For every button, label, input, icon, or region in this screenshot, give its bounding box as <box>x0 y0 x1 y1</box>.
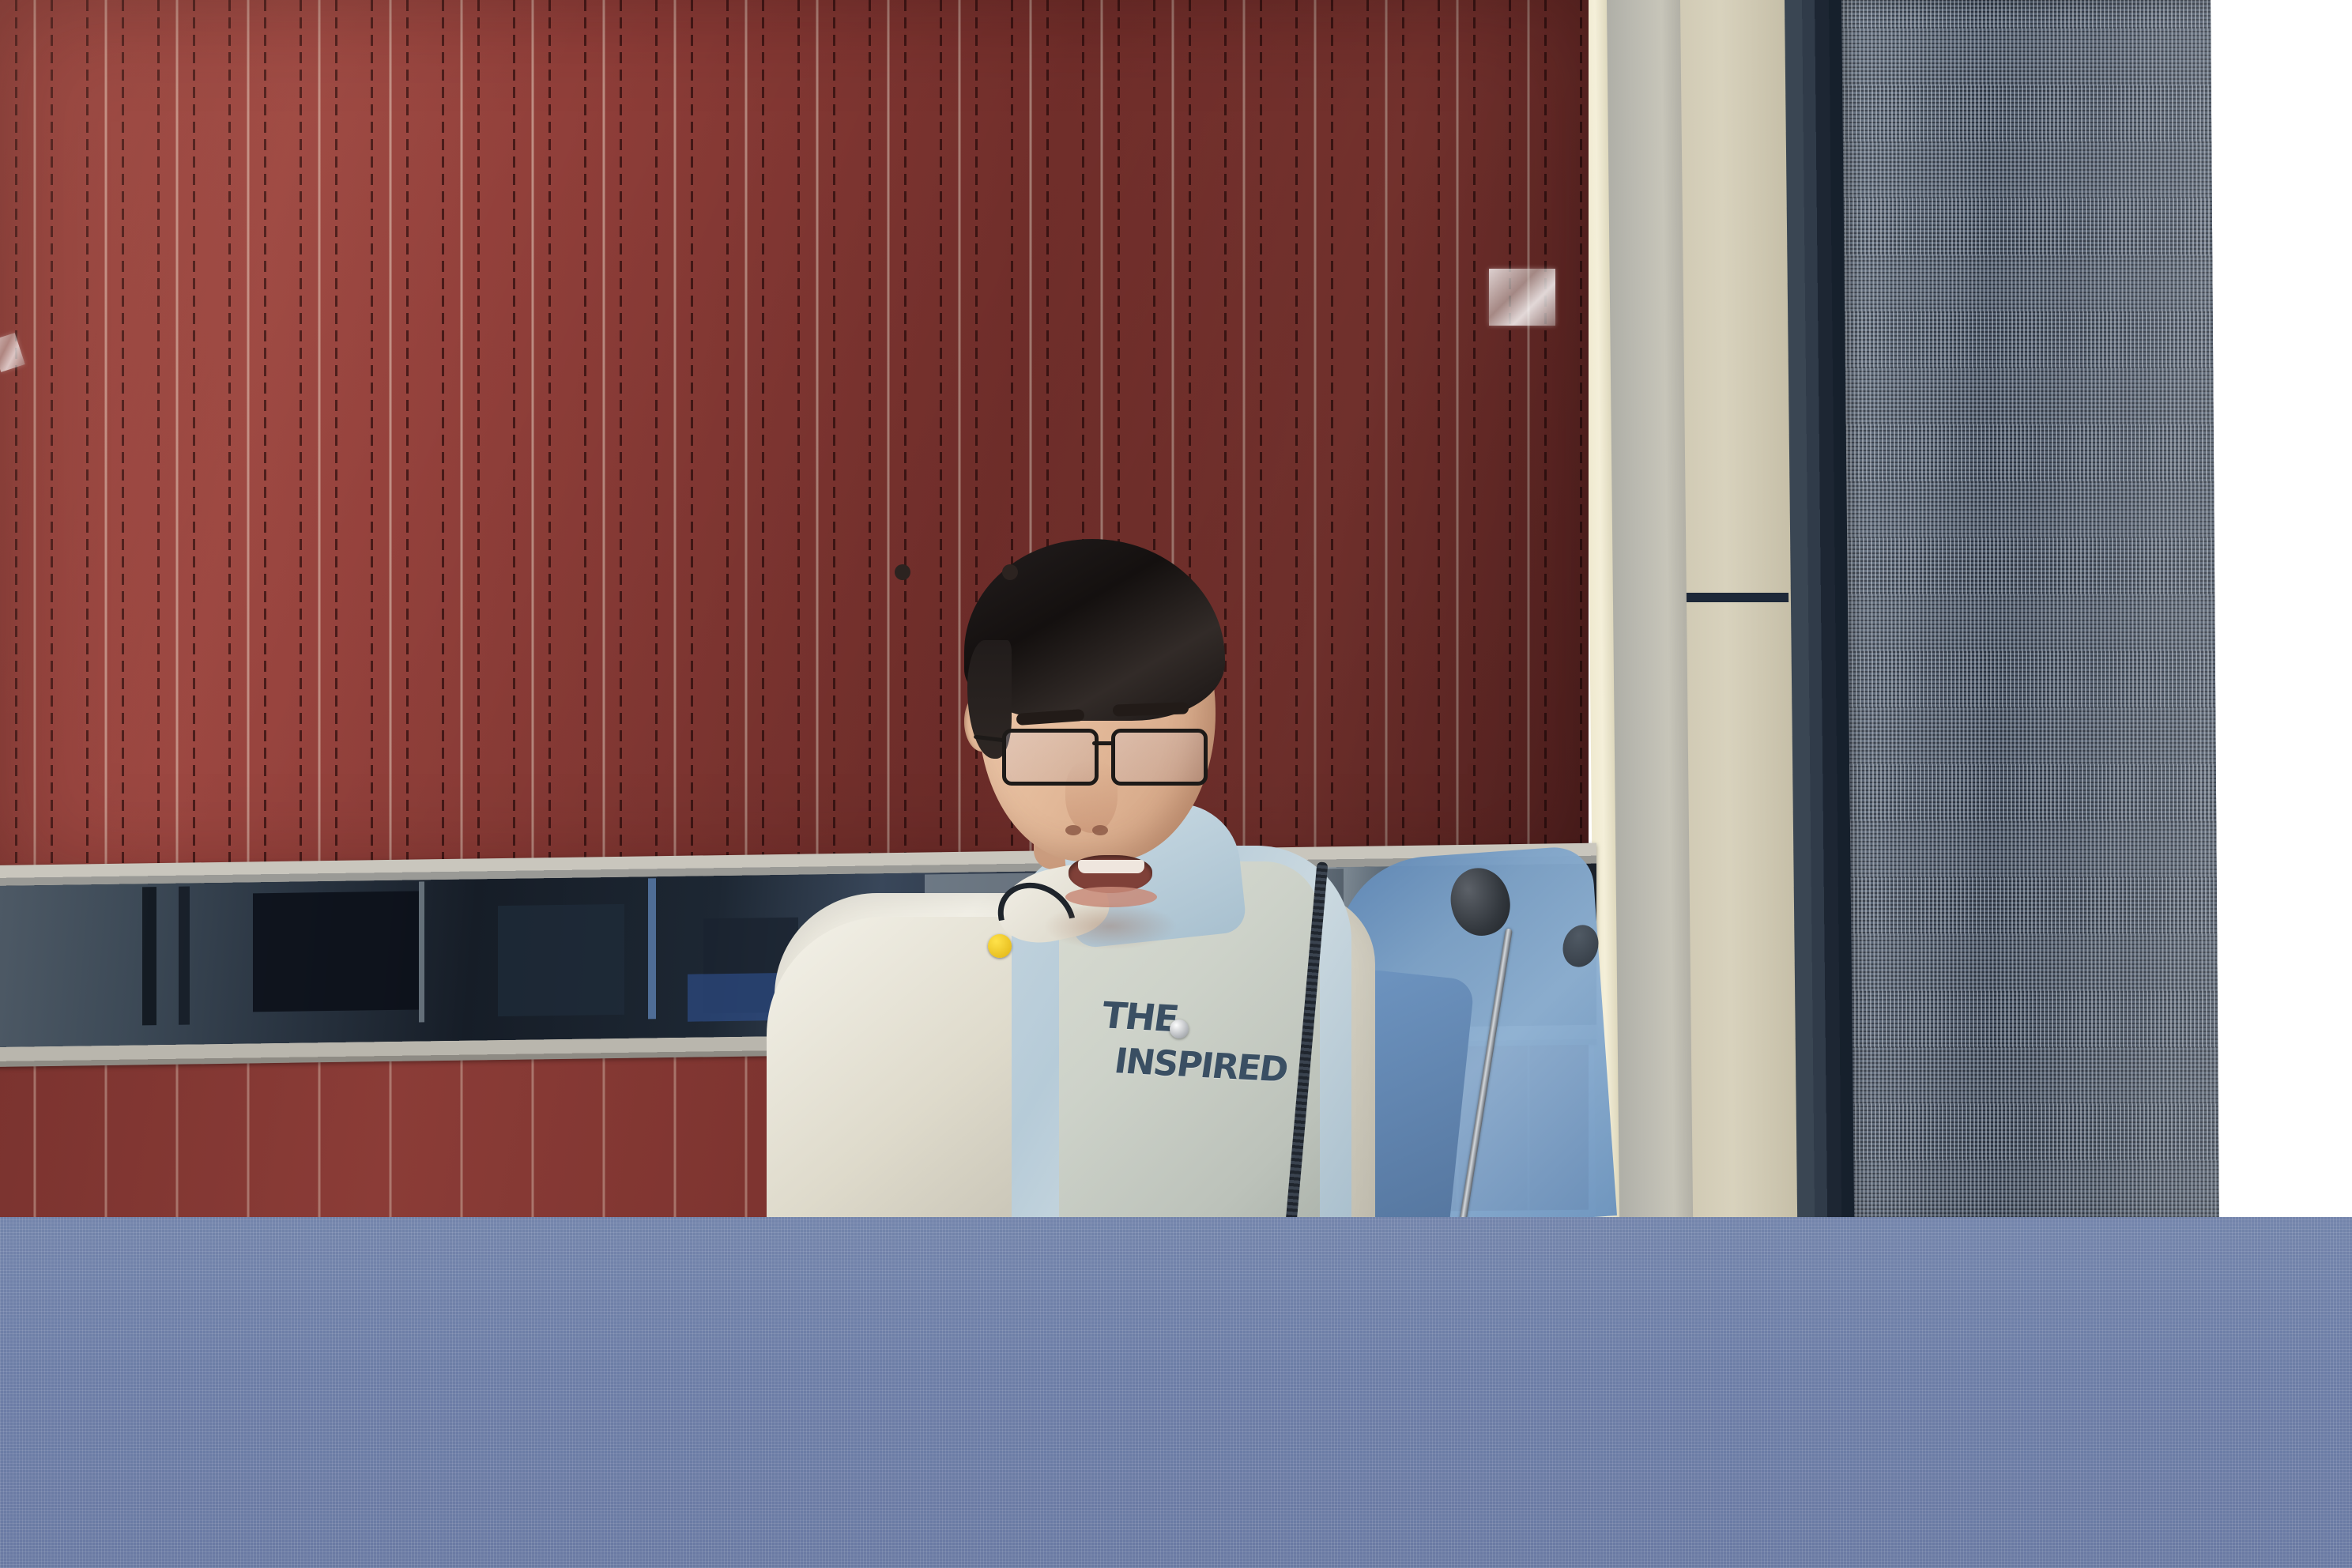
reflection-window-dark <box>253 891 419 1012</box>
nostril-left <box>1065 825 1081 835</box>
chin-shadow <box>1043 903 1178 950</box>
sweatshirt-graphic-print: THE INSPIRED <box>1092 992 1256 1094</box>
speaker-figure: THE INSPIRED <box>861 545 1510 1225</box>
reflection-curtain-2 <box>179 887 190 1025</box>
grey-painted-column <box>1604 0 1693 1222</box>
eye-left <box>895 564 910 580</box>
eyeglasses <box>1001 726 1222 784</box>
reflection-blue-mullion <box>648 878 656 1019</box>
reflection-window-lit <box>498 904 624 1016</box>
eyeglass-lens-left <box>1002 729 1099 786</box>
reflection-curtain <box>142 887 156 1025</box>
teeth <box>1078 860 1144 873</box>
eyeglass-lens-right <box>1111 729 1208 786</box>
cord-stopper-yellow-icon <box>988 934 1012 958</box>
woven-panel-highlight <box>1835 0 2219 1222</box>
photo-scene: THE INSPIRED <box>0 0 2352 1568</box>
eye-right <box>1002 564 1018 580</box>
eyeglass-bridge <box>1092 741 1114 745</box>
jacket-shoulder <box>767 917 1027 1233</box>
tape-patch-icon <box>1489 269 1555 326</box>
snap-button-lower <box>1170 1020 1189 1038</box>
reflection-window-frame <box>419 881 424 1022</box>
bottom-banner-band <box>0 1217 2352 1568</box>
column-joint-line <box>1672 593 1788 602</box>
nostril-right <box>1092 825 1108 835</box>
print-line-1: THE <box>1099 993 1181 1040</box>
print-line-2: INSPIRED <box>1111 1038 1249 1091</box>
